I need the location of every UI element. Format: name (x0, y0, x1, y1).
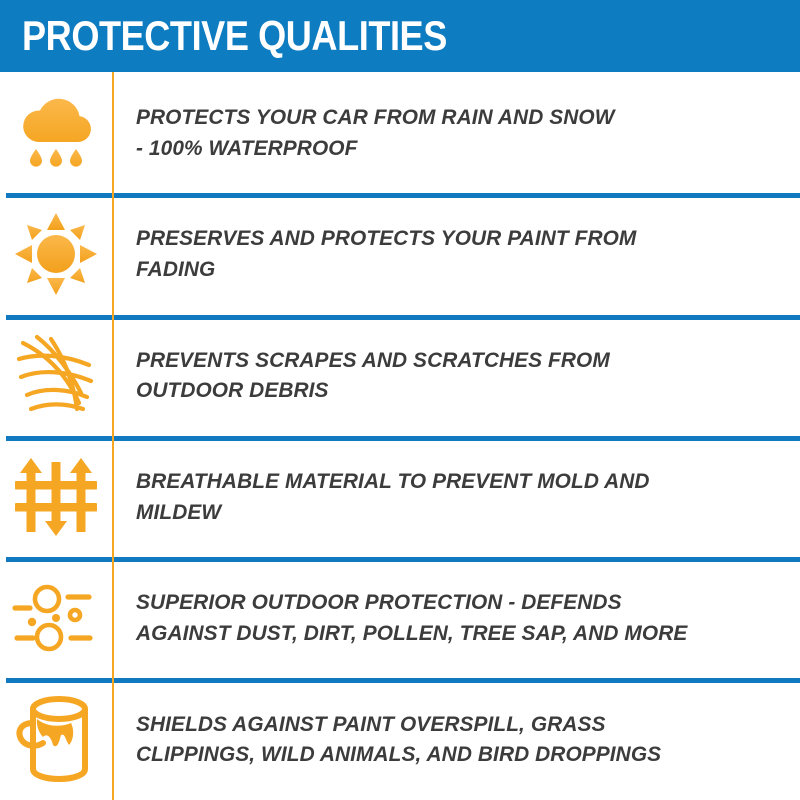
feature-text-line2: - 100% WATERPROOF (136, 133, 763, 164)
icon-cell (0, 193, 112, 314)
feature-text-line1: PREVENTS SCRAPES AND SCRATCHES FROM (136, 345, 763, 376)
icon-cell (0, 678, 112, 799)
list-item: BREATHABLE MATERIAL TO PREVENT MOLD AND … (0, 436, 800, 557)
page-title: PROTECTIVE QUALITIES (22, 15, 447, 57)
list-item: SUPERIOR OUTDOOR PROTECTION - DEFENDS AG… (0, 557, 800, 678)
dust-particles-icon (11, 580, 101, 656)
feature-text-line1: SUPERIOR OUTDOOR PROTECTION - DEFENDS (136, 587, 763, 618)
protective-qualities-infographic: PROTECTIVE QUALITIES (0, 0, 800, 800)
paint-bucket-icon (15, 693, 97, 785)
feature-text-line1: SHIELDS AGAINST PAINT OVERSPILL, GRASS (136, 709, 763, 740)
feature-text-line2: FADING (136, 254, 763, 285)
feature-text-line2: OUTDOOR DEBRIS (136, 375, 763, 406)
feature-text-line1: BREATHABLE MATERIAL TO PREVENT MOLD AND (136, 466, 763, 497)
feature-text-line2: MILDEW (136, 497, 763, 528)
list-item: PROTECTS YOUR CAR FROM RAIN AND SNOW - 1… (0, 72, 800, 193)
icon-cell (0, 72, 112, 193)
sun-icon (15, 213, 97, 295)
list-item: PREVENTS SCRAPES AND SCRATCHES FROM OUTD… (0, 315, 800, 436)
list-item: PRESERVES AND PROTECTS YOUR PAINT FROM F… (0, 193, 800, 314)
text-cell: PRESERVES AND PROTECTS YOUR PAINT FROM F… (112, 223, 800, 284)
icon-cell (0, 315, 112, 436)
text-cell: BREATHABLE MATERIAL TO PREVENT MOLD AND … (112, 466, 800, 527)
text-cell: SHIELDS AGAINST PAINT OVERSPILL, GRASS C… (112, 709, 800, 770)
header-band: PROTECTIVE QUALITIES (0, 0, 800, 72)
breathable-airflow-icon (13, 454, 99, 540)
scratch-mesh-icon (13, 329, 99, 421)
feature-text-line1: PRESERVES AND PROTECTS YOUR PAINT FROM (136, 223, 763, 254)
vertical-divider (112, 72, 114, 800)
feature-text-line2: CLIPPINGS, WILD ANIMALS, AND BIRD DROPPI… (136, 739, 763, 770)
text-cell: PROTECTS YOUR CAR FROM RAIN AND SNOW - 1… (112, 102, 800, 163)
icon-cell (0, 557, 112, 678)
list-item: SHIELDS AGAINST PAINT OVERSPILL, GRASS C… (0, 678, 800, 799)
icon-cell (0, 436, 112, 557)
feature-text-line2: AGAINST DUST, DIRT, POLLEN, TREE SAP, AN… (136, 618, 763, 649)
text-cell: SUPERIOR OUTDOOR PROTECTION - DEFENDS AG… (112, 587, 800, 648)
feature-text-line1: PROTECTS YOUR CAR FROM RAIN AND SNOW (136, 102, 763, 133)
text-cell: PREVENTS SCRAPES AND SCRATCHES FROM OUTD… (112, 345, 800, 406)
feature-list: PROTECTS YOUR CAR FROM RAIN AND SNOW - 1… (0, 72, 800, 800)
rain-cloud-icon (14, 94, 98, 172)
